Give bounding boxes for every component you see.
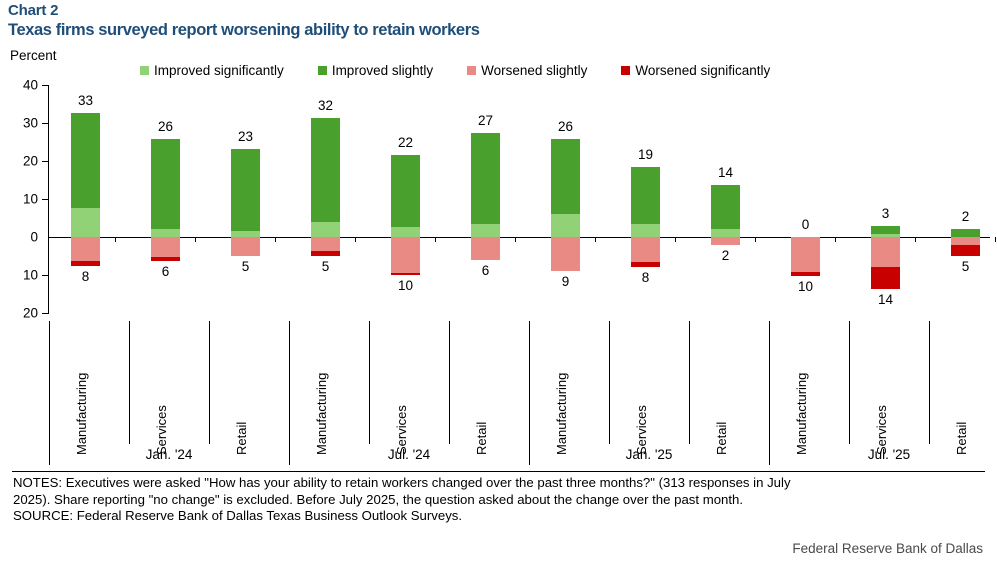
bar-segment-improved-slightly [551,139,580,214]
x-axis-tick [115,237,116,242]
bar-stack: 235 [231,0,260,470]
y-axis: 4030201001020 [0,0,38,470]
x-axis-tick [675,237,676,242]
x-axis-tick [755,237,756,242]
bar-value-label-positive: 26 [136,119,196,134]
x-axis-tick [995,237,996,242]
bar-segment-improved-slightly [71,113,100,208]
x-axis-tick [595,237,596,242]
bar-value-label-positive: 26 [536,119,596,134]
y-axis-tick-mark [42,123,49,124]
bar-value-label-negative: 9 [536,274,596,289]
source-line: SOURCE: Federal Reserve Bank of Dallas T… [13,508,985,525]
bar-segment-worsened-slightly [791,237,820,272]
bar-segment-worsened-slightly [551,237,580,271]
bar-segment-improved-significantly [471,224,500,237]
y-axis-tick-label: 0 [2,230,38,245]
bar-segment-improved-significantly [71,208,100,237]
x-axis-tick [275,237,276,242]
bar-value-label-negative: 14 [856,292,916,307]
bar-value-label-negative: 5 [936,259,996,274]
period-separator [49,321,50,465]
bar-segment-worsened-slightly [71,237,100,261]
x-axis-period-label: Jul. '24 [289,447,529,462]
bar-segment-improved-significantly [711,229,740,237]
x-axis-tick [515,237,516,242]
period-separator [769,321,770,465]
footer-brand: Federal Reserve Bank of Dallas [792,541,983,556]
bar-segment-worsened-slightly [471,237,500,260]
bar-segment-worsened-slightly [951,237,980,245]
bar-segment-worsened-significantly [151,257,180,261]
bar-segment-worsened-slightly [631,237,660,262]
category-separator [689,321,690,444]
y-axis-tick-mark [42,161,49,162]
bar-segment-worsened-slightly [711,237,740,245]
bar-value-label-negative: 8 [56,269,116,284]
bar-segment-worsened-slightly [151,237,180,257]
x-axis-tick [355,237,356,242]
bar-value-label-positive: 33 [56,93,116,108]
y-axis-tick-label: 30 [2,115,38,130]
y-axis-tick-label: 20 [2,306,38,321]
bar-value-label-positive: 3 [856,206,916,221]
bar-segment-improved-slightly [871,226,900,234]
bar-segment-improved-significantly [151,229,180,237]
y-axis-tick-label: 20 [2,153,38,168]
bar-value-label-negative: 6 [136,264,196,279]
bar-stack: 276 [471,0,500,470]
y-axis-tick-label: 40 [2,77,38,92]
chart-plot-area: 4030201001020 33826623532522102762691981… [0,0,997,470]
bar-segment-worsened-significantly [71,261,100,266]
x-axis-category-label: Manufacturing [554,373,569,455]
bar-segment-worsened-slightly [231,237,260,256]
bar-segment-improved-slightly [711,185,740,230]
bar-segment-improved-slightly [391,155,420,227]
notes-line-2: 2025). Share reporting "no change" is ex… [13,492,985,509]
bar-segment-worsened-significantly [631,262,660,268]
zero-baseline [48,237,990,238]
x-axis-tick [915,237,916,242]
category-separator [209,321,210,444]
bar-value-label-positive: 14 [696,165,756,180]
bar-stack: 25 [951,0,980,470]
category-separator [929,321,930,444]
category-separator [449,321,450,444]
bar-value-label-positive: 19 [616,147,676,162]
y-axis-tick-mark [42,275,49,276]
x-axis-tick [195,237,196,242]
period-separator [529,321,530,465]
category-separator [369,321,370,444]
x-axis-period-label: Jan. '24 [49,447,289,462]
bar-segment-improved-slightly [151,139,180,230]
x-axis-category-label: Manufacturing [74,373,89,455]
category-separator [609,321,610,444]
bar-segment-worsened-significantly [391,273,420,275]
x-axis-category-label: Manufacturing [314,373,329,455]
bar-segment-improved-slightly [471,133,500,223]
bar-segment-improved-slightly [311,118,340,222]
bar-value-label-positive: 0 [776,217,836,232]
x-axis-period-label: Jan. '25 [529,447,769,462]
bar-value-label-negative: 5 [296,259,356,274]
bar-value-label-positive: 2 [936,209,996,224]
period-separator [289,321,290,465]
bar-segment-improved-slightly [951,229,980,237]
notes-block: NOTES: Executives were asked "How has yo… [13,475,985,525]
bar-value-label-positive: 32 [296,98,356,113]
bar-segment-improved-significantly [631,224,660,237]
bar-value-label-positive: 23 [216,129,276,144]
bar-stack: 2210 [391,0,420,470]
notes-line-1: NOTES: Executives were asked "How has yo… [13,475,985,492]
bar-value-label-negative: 10 [376,278,436,293]
y-axis-tick-mark [42,313,49,314]
bar-value-label-negative: 8 [616,270,676,285]
bar-segment-improved-significantly [551,214,580,237]
y-axis-tick-label: 10 [2,191,38,206]
bar-segment-worsened-significantly [791,272,820,276]
bar-segment-improved-slightly [631,167,660,224]
bar-value-label-positive: 22 [376,135,436,150]
category-separator [129,321,130,444]
bar-stack: 266 [151,0,180,470]
bar-segment-improved-significantly [311,222,340,237]
bar-segment-worsened-significantly [951,245,980,256]
bar-segment-improved-slightly [231,149,260,231]
bar-value-label-negative: 2 [696,248,756,263]
y-axis-tick-mark [42,85,49,86]
bar-segment-worsened-slightly [311,237,340,251]
category-separator [849,321,850,444]
x-axis-period-label: Jul. '25 [769,447,997,462]
bar-segment-worsened-slightly [871,237,900,267]
x-axis-category-label: Manufacturing [794,373,809,455]
bar-value-label-negative: 5 [216,259,276,274]
y-axis-tick-label: 10 [2,268,38,283]
bar-segment-improved-significantly [391,227,420,237]
bar-stack: 198 [631,0,660,470]
bar-segment-worsened-slightly [391,237,420,273]
notes-divider [12,471,985,472]
bar-stack: 314 [871,0,900,470]
x-axis-tick [435,237,436,242]
x-axis-tick [835,237,836,242]
bar-segment-worsened-significantly [871,267,900,288]
bar-segment-worsened-significantly [311,251,340,257]
y-axis-tick-mark [42,199,49,200]
bar-stack: 142 [711,0,740,470]
bar-value-label-negative: 10 [776,279,836,294]
bar-value-label-positive: 27 [456,113,516,128]
bar-value-label-negative: 6 [456,263,516,278]
